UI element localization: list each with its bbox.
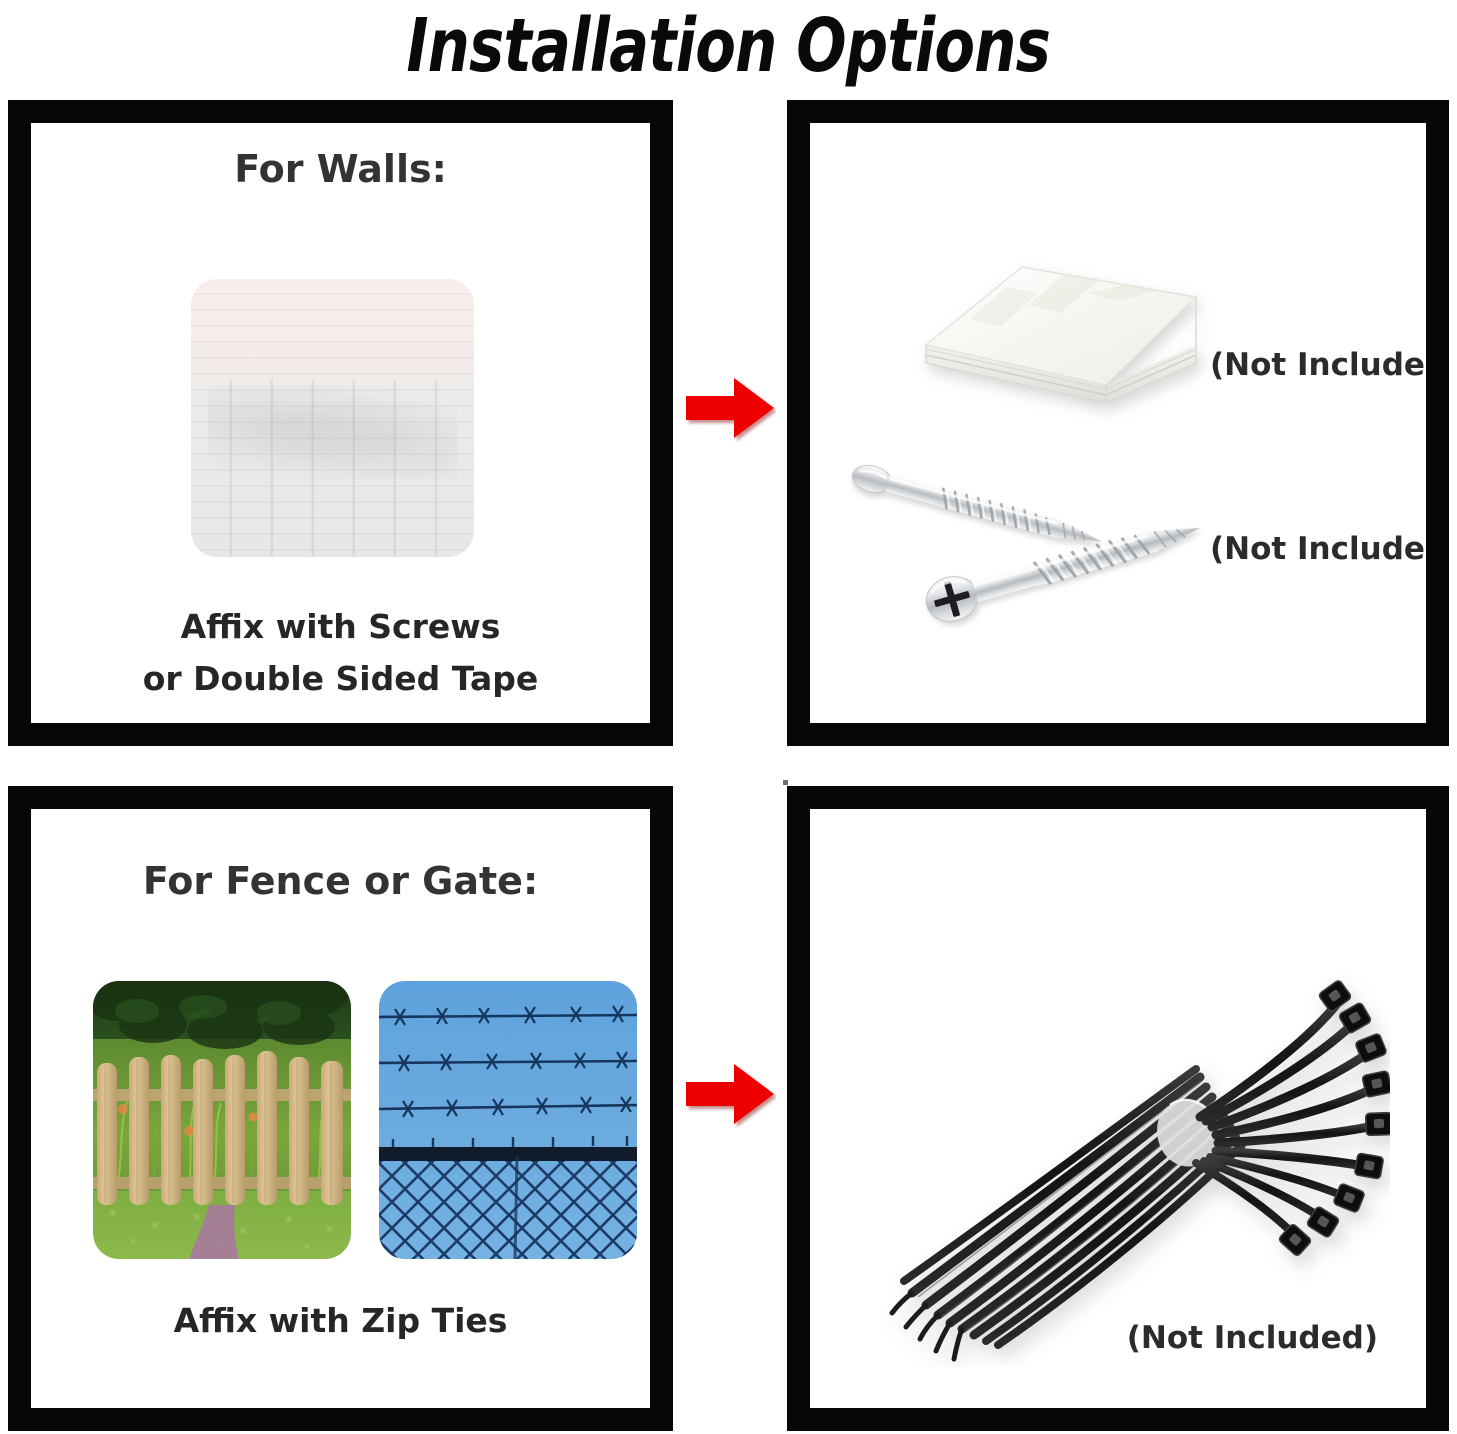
panel-for-walls-caption-line1: Affix with Screws [31,601,650,653]
panel-zip-ties: (Not Included) [787,786,1449,1431]
screws-not-included-label: (Not Included) [1210,531,1426,567]
red-right-arrow-icon [684,1058,776,1130]
image-artifact-speck [783,780,788,785]
panel-for-fence-heading: For Fence or Gate: [31,859,650,903]
panel-for-walls: For Walls: Affix with Screws or Double S… [8,100,673,746]
wooden-picket-fence-photo [93,981,351,1259]
panel-zip-ties-inner: (Not Included) [810,809,1426,1408]
panel-wall-hardware: (Not Included) [787,100,1449,746]
panel-for-walls-heading: For Walls: [31,147,650,191]
panel-for-fence-caption: Affix with Zip Ties [31,1295,650,1347]
panel-for-fence-or-gate-inner: For Fence or Gate: [31,809,650,1408]
panel-for-walls-caption-line2: or Double Sided Tape [31,653,650,705]
double-sided-tape-stack-image [910,245,1210,435]
page-title: Installation Options [407,6,1051,86]
red-right-arrow-icon [684,372,776,444]
white-brick-wall-photo [191,279,474,557]
chain-link-barbed-wire-fence-photo [379,981,637,1259]
title-bar: Installation Options [0,0,1457,92]
zip-ties-not-included-label: (Not Included) [1127,1320,1378,1356]
panel-for-fence-or-gate: For Fence or Gate: [8,786,673,1431]
wood-screw-lower-image [918,521,1218,633]
tape-not-included-label: (Not Included) [1210,347,1426,383]
black-zip-tie-bundle-image [870,927,1390,1367]
panel-wall-hardware-inner: (Not Included) [810,123,1426,723]
panel-for-walls-inner: For Walls: Affix with Screws or Double S… [31,123,650,723]
brick-texture-shading [208,385,457,480]
